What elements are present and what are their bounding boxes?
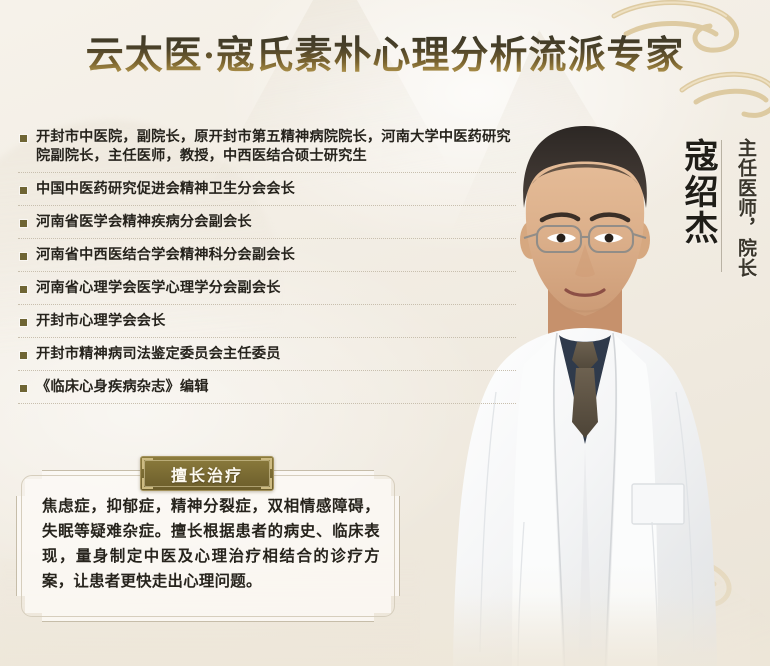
credential-text: 河南省心理学会医学心理学分会副会长 (36, 279, 516, 298)
badge-corner-bottom-left-icon (142, 478, 153, 489)
badge-corner-top-right-icon (261, 458, 272, 469)
specialty-badge: 擅长治疗 (140, 456, 274, 491)
specialty-badge-label: 擅长治疗 (171, 462, 243, 486)
list-item: 河南省心理学会医学心理学分会副会长 (18, 272, 516, 305)
credential-text: 开封市精神病司法鉴定委员会主任委员 (36, 345, 516, 364)
specialty-panel: 焦虑症，抑郁症，精神分裂症，双相情感障碍，失眠等疑难杂症。擅长根据患者的病史、临… (16, 470, 400, 622)
credential-text: 开封市心理学会会长 (36, 312, 516, 331)
list-item: 河南省中西医结合学会精神科分会副会长 (18, 239, 516, 272)
cloud-swirl-icon-bottom-right (582, 526, 762, 636)
doctor-name: 寇绍杰 (679, 138, 715, 246)
credential-text: 河南省中西医结合学会精神科分会副会长 (36, 246, 516, 265)
doctor-title: 主任医师，院长 (734, 138, 756, 278)
bullet-square-icon (20, 352, 27, 359)
bullet-square-icon (20, 385, 27, 392)
bullet-square-icon (20, 253, 27, 260)
specialty-body-text: 焦虑症，抑郁症，精神分裂症，双相情感障碍，失眠等疑难杂症。擅长根据患者的病史、临… (42, 494, 380, 594)
list-item: 开封市心理学会会长 (18, 305, 516, 338)
list-item: 中国中医药研究促进会精神卫生分会会长 (18, 173, 516, 206)
list-item: 开封市精神病司法鉴定委员会主任委员 (18, 338, 516, 371)
badge-corner-bottom-right-icon (261, 478, 272, 489)
bullet-square-icon (20, 220, 27, 227)
mountain-silhouette-4 (470, 470, 770, 666)
credential-text: 中国中医药研究促进会精神卫生分会会长 (36, 180, 516, 199)
credential-text: 开封市中医院，副院长，原开封市第五精神病院院长，河南大学中医药研究院副院长，主任… (36, 128, 516, 166)
page-title: 云太医·寇氏素朴心理分析流派专家 (0, 34, 770, 80)
credential-text: 《临床心身疾病杂志》编辑 (36, 378, 516, 397)
list-item: 河南省医学会精神疾病分会副会长 (18, 206, 516, 239)
bullet-square-icon (20, 286, 27, 293)
vertical-divider (721, 140, 722, 272)
badge-corner-top-left-icon (142, 458, 153, 469)
list-item: 《临床心身疾病杂志》编辑 (18, 371, 516, 404)
bullet-square-icon (20, 187, 27, 194)
credential-text: 河南省医学会精神疾病分会副会长 (36, 213, 516, 232)
bullet-square-icon (20, 319, 27, 326)
credentials-list: 开封市中医院，副院长，原开封市第五精神病院院长，河南大学中医药研究院副院长，主任… (18, 128, 516, 404)
list-item: 开封市中医院，副院长，原开封市第五精神病院院长，河南大学中医药研究院副院长，主任… (18, 128, 516, 173)
bullet-square-icon (20, 135, 27, 142)
profile-poster: 云太医·寇氏素朴心理分析流派专家 (0, 0, 770, 666)
